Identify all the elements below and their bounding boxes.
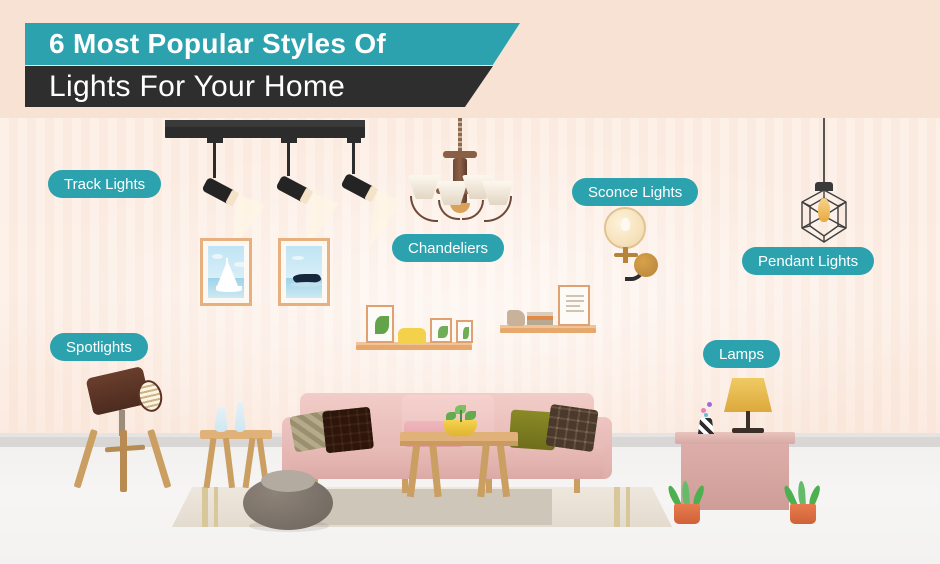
cloud-shape: [234, 262, 244, 267]
shelf-books-stack: [507, 310, 525, 326]
spotlight-tripod-leg-3: [147, 429, 171, 488]
side-table-leg: [223, 438, 235, 488]
sailboat-hull: [216, 286, 242, 292]
plant-pot: [674, 504, 700, 524]
speedboat-artwork: [286, 246, 322, 298]
floor-pouf-ottoman: [243, 470, 333, 532]
pendant-light-fixture: [790, 118, 860, 228]
rug-stripe: [214, 487, 218, 527]
title-banner-secondary: Lights For Your Home: [25, 66, 493, 107]
track-stem-2: [287, 138, 290, 176]
sailboat-mast: [226, 258, 228, 286]
label-text: Sconce Lights: [588, 184, 682, 201]
rug-stripe: [202, 487, 208, 527]
frame-text-line: [566, 305, 580, 307]
decor-patterned-vase: [698, 418, 714, 434]
chandelier-canopy: [443, 151, 477, 158]
rug-stripe: [626, 487, 630, 527]
sconce-bulb: [621, 218, 630, 231]
track-stem-1: [213, 138, 216, 178]
leaf-icon: [375, 316, 389, 334]
shelf-frame-leaf: [456, 320, 473, 343]
title-banner-primary: 6 Most Popular Styles Of: [25, 23, 520, 65]
wall-art-speedboat: [278, 238, 330, 306]
title-line-1: 6 Most Popular Styles Of: [49, 28, 386, 60]
shelf-frame-botanical-large: [366, 305, 394, 343]
coffee-table: [400, 432, 518, 500]
sofa-pillow-plaid-right: [545, 404, 598, 452]
track-stem-3: [352, 138, 355, 174]
title-line-2: Lights For Your Home: [49, 70, 345, 104]
label-text: Lamps: [719, 346, 764, 363]
table-lamp-base: [732, 428, 764, 433]
flower-bloom: [707, 402, 712, 407]
label-spotlights[interactable]: Spotlights: [50, 333, 148, 361]
leaf-icon: [438, 326, 448, 338]
leaf-icon: [463, 327, 469, 339]
chandelier-chain: [458, 118, 462, 152]
frame-text-line: [566, 310, 584, 312]
infographic-canvas: 6 Most Popular Styles Of Lights For Your…: [0, 0, 940, 564]
pendant-edison-bulb: [818, 198, 830, 222]
speedboat-wake: [290, 282, 322, 287]
wall-shelf-right: [500, 328, 596, 333]
chandelier-arm-left: [410, 196, 438, 222]
spotlight-floor-lamp: [75, 368, 180, 493]
flower-bloom: [704, 413, 708, 417]
potted-plant-left: [672, 484, 702, 524]
wall-art-sailboat: [200, 238, 252, 306]
label-text: Spotlights: [66, 339, 132, 356]
spotlight-tripod-leg-2: [120, 430, 127, 492]
potted-plant-right: [788, 484, 818, 524]
side-table-leg: [204, 438, 217, 488]
label-sconce-lights[interactable]: Sconce Lights: [572, 178, 698, 206]
chandelier-arm-right: [484, 196, 512, 222]
cloud-shape: [292, 256, 304, 260]
coffee-table-leg: [497, 445, 510, 497]
decor-flowers: [700, 400, 714, 420]
chandelier-arm-inner-right: [462, 200, 484, 220]
plant-stem: [460, 410, 462, 422]
leaf-icon: [465, 411, 476, 420]
sconce-wall-plate: [634, 253, 658, 277]
chandelier-arm-inner-left: [438, 200, 460, 220]
track-head-1: [201, 177, 236, 205]
sofa-pillow-plaid-left: [322, 407, 374, 454]
wall-shelf-left: [356, 345, 472, 350]
table-lamp-stem: [746, 411, 750, 429]
pouf-top-surface: [261, 470, 315, 492]
sailboat-artwork: [208, 246, 244, 298]
rug-stripe: [614, 487, 620, 527]
label-text: Track Lights: [64, 176, 145, 193]
label-pendant-lights[interactable]: Pendant Lights: [742, 247, 874, 275]
track-rail: [165, 127, 365, 138]
label-text: Pendant Lights: [758, 253, 858, 270]
label-track-lights[interactable]: Track Lights: [48, 170, 161, 198]
shelf-magazine-3: [527, 320, 553, 325]
table-lamp-shade: [724, 378, 772, 412]
frame-text-line: [566, 300, 584, 302]
table-plant-foliage: [444, 404, 478, 422]
spotlight-tripod-leg-1: [74, 429, 98, 488]
coffee-table-leg: [429, 445, 441, 497]
label-lamps[interactable]: Lamps: [703, 340, 780, 368]
cloud-shape: [212, 254, 223, 259]
track-head-2: [275, 175, 310, 203]
shelf-large-art-frame: [558, 285, 590, 326]
label-text: Chandeliers: [408, 240, 488, 257]
shelf-frame-botanical-small: [430, 318, 452, 343]
pendant-cord: [823, 118, 825, 185]
shelf-yellow-plant: [398, 328, 426, 343]
sconce-light-fixture: [600, 205, 660, 283]
coffee-table-leg: [407, 445, 420, 497]
coffee-table-leg: [477, 445, 489, 497]
chandelier-fixture: [400, 118, 520, 233]
label-chandeliers[interactable]: Chandeliers: [392, 234, 504, 262]
table-plant-bowl: [443, 420, 477, 436]
plant-pot: [790, 504, 816, 524]
frame-text-line: [566, 295, 584, 297]
table-lamp-fixture: [718, 378, 778, 434]
sconce-crossbar: [614, 253, 638, 257]
track-lights-fixture: [165, 120, 365, 250]
sofa-leg: [574, 479, 580, 493]
